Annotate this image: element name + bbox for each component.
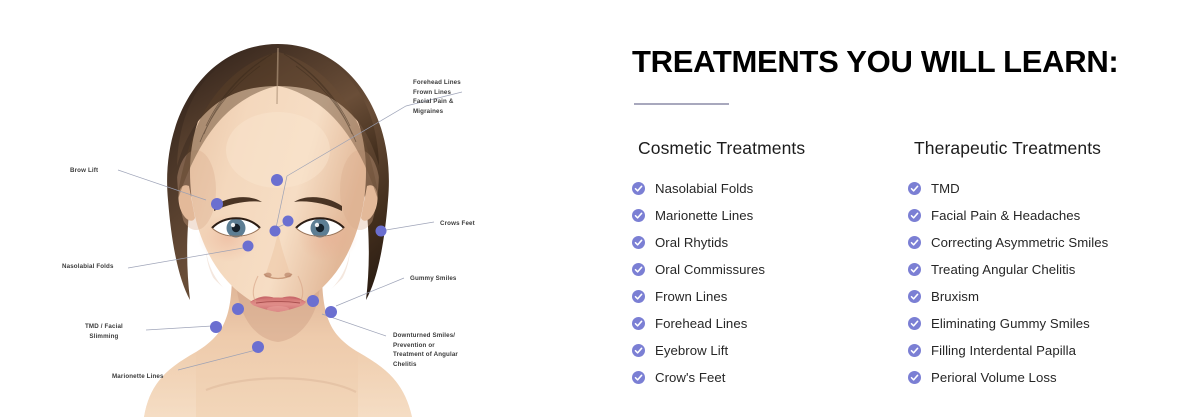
check-circle-icon [908, 209, 921, 222]
list-item: Eyebrow Lift [632, 337, 908, 364]
list-item: Marionette Lines [632, 202, 908, 229]
list-item-label: Nasolabial Folds [655, 181, 753, 196]
list-item-label: TMD [931, 181, 960, 196]
list-item: Filling Interdental Papilla [908, 337, 1184, 364]
list-item-label: Treating Angular Chelitis [931, 262, 1075, 277]
list-item: Facial Pain & Headaches [908, 202, 1184, 229]
list-item-label: Bruxism [931, 289, 979, 304]
check-circle-icon [908, 344, 921, 357]
list-item: Correcting Asymmetric Smiles [908, 229, 1184, 256]
list-item-label: Crow's Feet [655, 370, 726, 385]
check-circle-icon [632, 290, 645, 303]
cosmetic-treatments-heading: Cosmetic Treatments [638, 138, 908, 159]
face-diagram: Forehead Lines Frown Lines Facial Pain &… [0, 0, 590, 417]
list-item: Perioral Volume Loss [908, 364, 1184, 391]
list-item: Frown Lines [632, 283, 908, 310]
check-circle-icon [908, 371, 921, 384]
therapeutic-treatments-column: Therapeutic Treatments TMD [908, 138, 1184, 391]
list-item-label: Facial Pain & Headaches [931, 208, 1080, 223]
check-circle-icon [632, 263, 645, 276]
list-item-label: Oral Rhytids [655, 235, 728, 250]
list-item-label: Correcting Asymmetric Smiles [931, 235, 1108, 250]
list-item: Treating Angular Chelitis [908, 256, 1184, 283]
list-item: Oral Commissures [632, 256, 908, 283]
list-item: Eliminating Gummy Smiles [908, 310, 1184, 337]
list-item-label: Forehead Lines [655, 316, 747, 331]
therapeutic-treatments-list: TMD Facial Pain & Headaches [908, 175, 1184, 391]
annotation-gummy-smiles: Gummy Smiles [410, 274, 457, 284]
list-item-label: Eliminating Gummy Smiles [931, 316, 1090, 331]
list-item-label: Marionette Lines [655, 208, 753, 223]
list-item-label: Frown Lines [655, 289, 727, 304]
check-circle-icon [632, 209, 645, 222]
check-circle-icon [632, 182, 645, 195]
annotation-labels: Forehead Lines Frown Lines Facial Pain &… [0, 0, 590, 417]
annotation-marionette-lines: Marionette Lines [112, 372, 164, 382]
list-item: Crow's Feet [632, 364, 908, 391]
cosmetic-treatments-list: Nasolabial Folds Marionette Lines [632, 175, 908, 391]
check-circle-icon [908, 290, 921, 303]
list-item: TMD [908, 175, 1184, 202]
list-item-label: Filling Interdental Papilla [931, 343, 1076, 358]
annotation-brow-lift: Brow Lift [70, 166, 98, 176]
check-circle-icon [908, 182, 921, 195]
check-circle-icon [632, 344, 645, 357]
annotation-forehead-lines: Forehead Lines Frown Lines Facial Pain &… [413, 78, 461, 116]
check-circle-icon [632, 317, 645, 330]
check-circle-icon [908, 263, 921, 276]
check-circle-icon [632, 236, 645, 249]
list-item-label: Perioral Volume Loss [931, 370, 1057, 385]
annotation-crows-feet: Crows Feet [440, 219, 475, 229]
list-item: Oral Rhytids [632, 229, 908, 256]
check-circle-icon [908, 317, 921, 330]
list-item: Nasolabial Folds [632, 175, 908, 202]
annotation-tmd-facial-slimming: TMD / Facial Slimming [85, 322, 123, 341]
therapeutic-treatments-heading: Therapeutic Treatments [914, 138, 1184, 159]
treatments-slide: Forehead Lines Frown Lines Facial Pain &… [0, 0, 1200, 417]
check-circle-icon [632, 371, 645, 384]
list-item-label: Eyebrow Lift [655, 343, 728, 358]
treatments-panel: TREATMENTS YOU WILL LEARN: Cosmetic Trea… [632, 0, 1200, 417]
title-divider [634, 103, 729, 105]
annotation-nasolabial-folds: Nasolabial Folds [62, 262, 114, 272]
list-item-label: Oral Commissures [655, 262, 765, 277]
annotation-downturned-smiles: Downturned Smiles/ Prevention or Treatme… [393, 331, 458, 369]
list-item: Bruxism [908, 283, 1184, 310]
cosmetic-treatments-column: Cosmetic Treatments Nasolabial Folds [632, 138, 908, 391]
list-item: Forehead Lines [632, 310, 908, 337]
check-circle-icon [908, 236, 921, 249]
treatment-columns: Cosmetic Treatments Nasolabial Folds [632, 138, 1200, 391]
page-title: TREATMENTS YOU WILL LEARN: [632, 44, 1118, 80]
